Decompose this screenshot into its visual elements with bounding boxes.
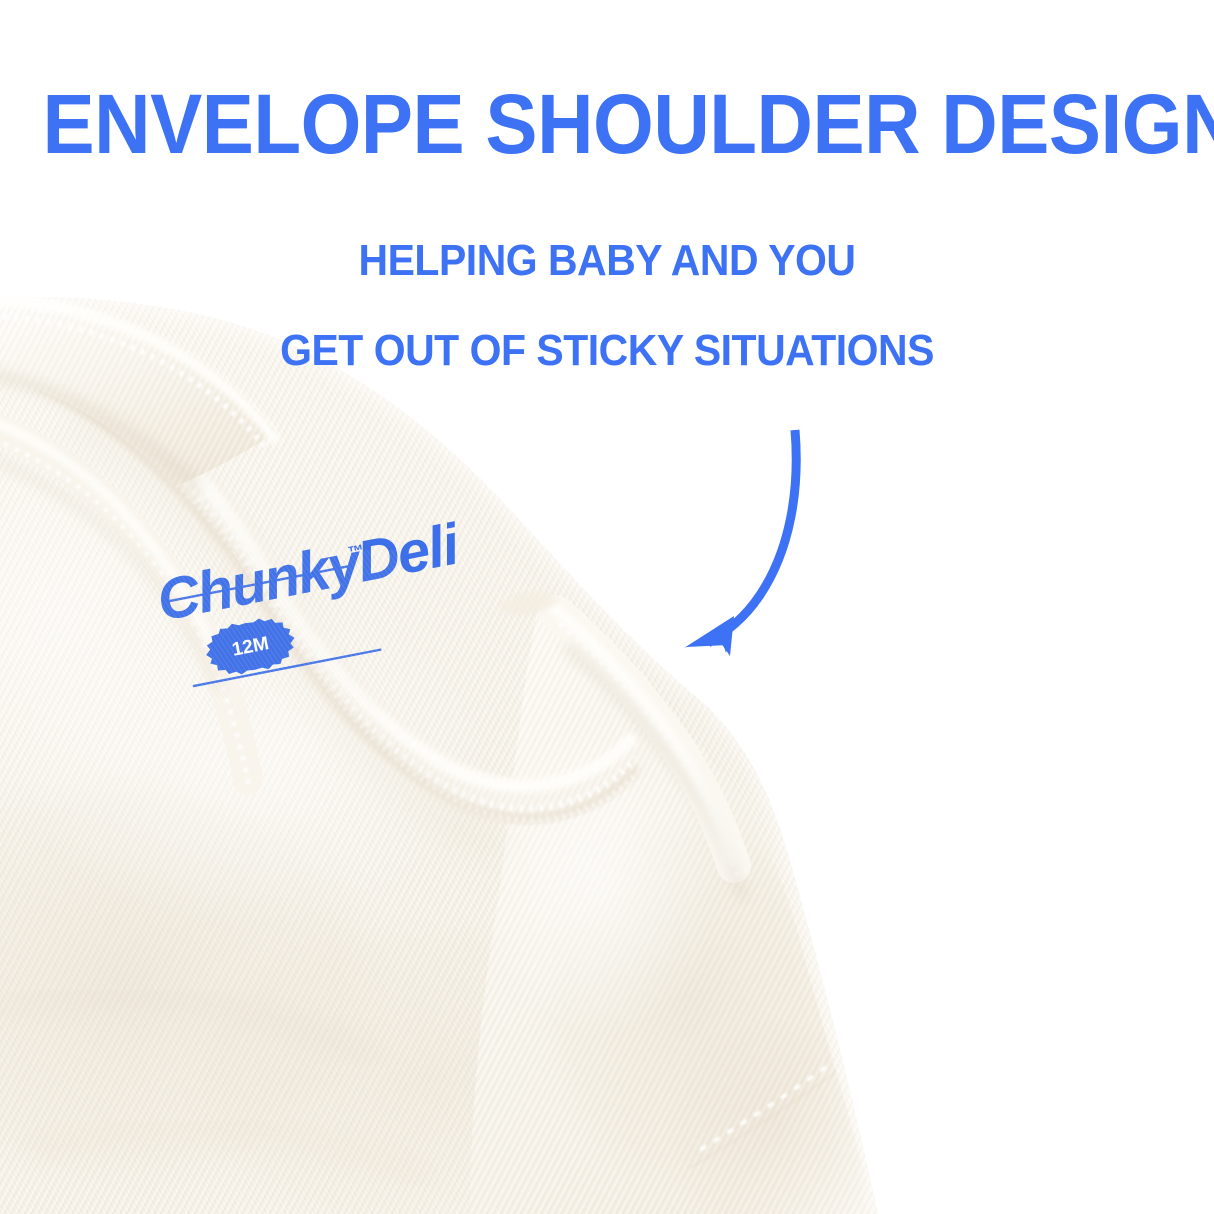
- curved-arrow-pointing-to-shoulder: [640, 400, 860, 680]
- product-photo-bodysuit: 12M ChunkyDeli ™: [0, 0, 1214, 1214]
- product-feature-graphic: 12M ChunkyDeli ™ ENVELOPE SHOULDER DESIG…: [0, 0, 1214, 1214]
